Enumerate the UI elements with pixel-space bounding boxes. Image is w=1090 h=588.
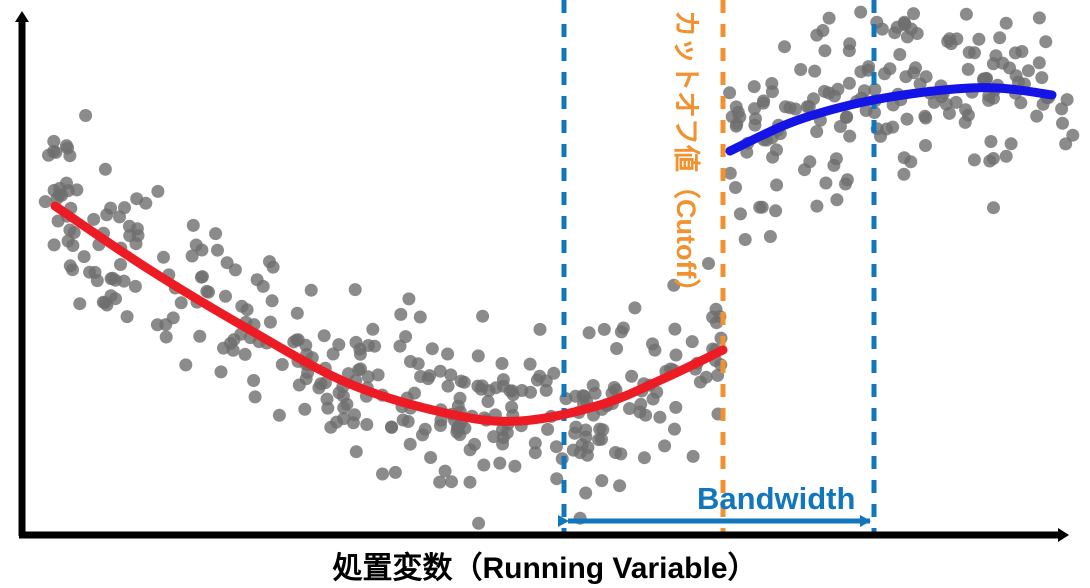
scatter-point bbox=[634, 398, 647, 411]
scatter-point bbox=[587, 379, 600, 392]
scatter-point bbox=[385, 421, 398, 434]
scatter-point bbox=[1030, 110, 1043, 123]
scatter-point bbox=[901, 30, 914, 43]
scatter-point bbox=[798, 163, 811, 176]
scatter-point bbox=[668, 323, 681, 336]
scatter-point bbox=[264, 316, 277, 329]
scatter-point bbox=[434, 365, 447, 378]
scatter-point bbox=[445, 475, 458, 488]
scatter-point bbox=[972, 33, 985, 46]
scatter-point bbox=[91, 274, 104, 287]
scatter-point bbox=[901, 113, 914, 126]
scatter-point bbox=[653, 411, 666, 424]
scatter-point bbox=[200, 285, 213, 298]
scatter-point bbox=[595, 474, 608, 487]
scatter-point bbox=[687, 450, 700, 463]
scatter-point bbox=[416, 428, 429, 441]
scatter-point bbox=[130, 192, 143, 205]
scatter-point bbox=[366, 323, 379, 336]
scatter-point bbox=[807, 92, 820, 105]
scatter-point bbox=[764, 230, 777, 243]
scatter-points bbox=[39, 6, 1080, 530]
scatter-point bbox=[151, 185, 164, 198]
plot-canvas bbox=[0, 0, 1090, 588]
scatter-point bbox=[360, 418, 373, 431]
scatter-point bbox=[441, 348, 454, 361]
scatter-point bbox=[959, 103, 972, 116]
scatter-point bbox=[389, 466, 402, 479]
scatter-point bbox=[368, 340, 381, 353]
scatter-point bbox=[211, 244, 224, 257]
scatter-point bbox=[1056, 117, 1069, 130]
scatter-point bbox=[1061, 93, 1074, 106]
scatter-point bbox=[247, 374, 260, 387]
scatter-point bbox=[529, 446, 542, 459]
cutoff-label: カットオフ値（Cutoff） bbox=[669, 10, 708, 310]
scatter-point bbox=[843, 130, 856, 143]
scatter-point bbox=[402, 292, 415, 305]
scatter-point bbox=[159, 318, 172, 331]
scatter-point bbox=[810, 200, 823, 213]
scatter-point bbox=[753, 201, 766, 214]
scatter-point bbox=[99, 163, 112, 176]
bandwidth-label: Bandwidth bbox=[697, 481, 855, 517]
scatter-point bbox=[1000, 17, 1013, 30]
scatter-point bbox=[257, 280, 270, 293]
scatter-point bbox=[784, 101, 797, 114]
scatter-point bbox=[100, 208, 113, 221]
scatter-point bbox=[292, 333, 305, 346]
scatter-point bbox=[324, 421, 337, 434]
scatter-point bbox=[228, 333, 241, 346]
scatter-point bbox=[179, 358, 192, 371]
scatter-point bbox=[235, 300, 248, 313]
scatter-point bbox=[249, 390, 262, 403]
scatter-point bbox=[321, 402, 334, 415]
scatter-point bbox=[686, 335, 699, 348]
scatter-point bbox=[843, 44, 856, 57]
scatter-point bbox=[568, 427, 581, 440]
scatter-point bbox=[724, 167, 737, 180]
scatter-point bbox=[79, 109, 92, 122]
scatter-point bbox=[195, 271, 208, 284]
scatter-point bbox=[64, 259, 77, 272]
scatter-point bbox=[404, 355, 417, 368]
scatter-point bbox=[394, 308, 407, 321]
scatter-point bbox=[472, 349, 485, 362]
scatter-point bbox=[464, 443, 477, 456]
scatter-point bbox=[984, 135, 997, 148]
scatter-point bbox=[376, 468, 389, 481]
scatter-point bbox=[962, 63, 975, 76]
scatter-point bbox=[968, 153, 981, 166]
scatter-point bbox=[131, 222, 144, 235]
scatter-point bbox=[918, 110, 931, 123]
scatter-point bbox=[62, 235, 75, 248]
scatter-point bbox=[819, 177, 832, 190]
scatter-point bbox=[534, 323, 547, 336]
scatter-point bbox=[904, 155, 917, 168]
scatter-point bbox=[550, 440, 563, 453]
scatter-point bbox=[769, 204, 782, 217]
scatter-point bbox=[983, 155, 996, 168]
scatter-point bbox=[266, 294, 279, 307]
scatter-point bbox=[839, 178, 852, 191]
scatter-point bbox=[314, 377, 327, 390]
x-axis-label: 処置変数（Running Variable） bbox=[0, 543, 1090, 587]
scatter-point bbox=[613, 479, 626, 492]
scatter-point bbox=[273, 409, 286, 422]
scatter-point bbox=[118, 275, 131, 288]
scatter-point bbox=[1033, 11, 1046, 24]
scatter-point bbox=[414, 370, 427, 383]
scatter-point bbox=[748, 80, 761, 93]
scatter-point bbox=[899, 18, 912, 31]
scatter-point bbox=[1009, 46, 1022, 59]
scatter-point bbox=[408, 387, 421, 400]
scatter-point bbox=[987, 57, 1000, 70]
scatter-point bbox=[778, 40, 791, 53]
scatter-point bbox=[496, 357, 509, 370]
scatter-point bbox=[113, 210, 126, 223]
scatter-point bbox=[404, 438, 417, 451]
scatter-point bbox=[950, 32, 963, 45]
scatter-point bbox=[920, 70, 933, 83]
scatter-point bbox=[1005, 137, 1018, 150]
scatter-point bbox=[940, 98, 953, 111]
scatter-point bbox=[1033, 56, 1046, 69]
scatter-point bbox=[886, 121, 899, 134]
scatter-point bbox=[476, 310, 489, 323]
scatter-point bbox=[810, 29, 823, 42]
scatter-point bbox=[318, 329, 331, 342]
scatter-point bbox=[78, 250, 91, 263]
scatter-point bbox=[414, 311, 427, 324]
scatter-point bbox=[47, 145, 60, 158]
scatter-point bbox=[471, 380, 484, 393]
scatter-point bbox=[1000, 150, 1013, 163]
scatter-point bbox=[818, 44, 831, 57]
scatter-point bbox=[276, 358, 289, 371]
scatter-point bbox=[63, 149, 76, 162]
scatter-point bbox=[540, 375, 553, 388]
scatter-point bbox=[507, 388, 520, 401]
scatter-point bbox=[348, 408, 361, 421]
scatter-point bbox=[670, 349, 683, 362]
scatter-point bbox=[982, 94, 995, 107]
scatter-point bbox=[239, 348, 252, 361]
scatter-point bbox=[121, 310, 134, 323]
scatter-point bbox=[595, 433, 608, 446]
scatter-point bbox=[1039, 35, 1052, 48]
scatter-point bbox=[614, 447, 627, 460]
scatter-point bbox=[843, 77, 856, 90]
scatter-point bbox=[610, 342, 623, 355]
scatter-point bbox=[219, 290, 232, 303]
scatter-point bbox=[501, 426, 514, 439]
scatter-point bbox=[734, 207, 747, 220]
scatter-point bbox=[823, 87, 836, 100]
scatter-point bbox=[765, 77, 778, 90]
scatter-point bbox=[70, 183, 83, 196]
scatter-point bbox=[193, 330, 206, 343]
scatter-point bbox=[424, 451, 437, 464]
scatter-point bbox=[840, 110, 853, 123]
scatter-point bbox=[808, 65, 821, 78]
scatter-point bbox=[960, 8, 973, 21]
scatter-point bbox=[579, 487, 592, 500]
scatter-point bbox=[628, 301, 641, 314]
scatter-point bbox=[48, 184, 61, 197]
scatter-point bbox=[350, 336, 363, 349]
scatter-point bbox=[646, 337, 659, 350]
scatter-point bbox=[426, 342, 439, 355]
scatter-point bbox=[442, 380, 455, 393]
scatter-point bbox=[472, 517, 485, 530]
scatter-point bbox=[987, 201, 1000, 214]
scatter-point bbox=[757, 94, 770, 107]
scatter-point bbox=[794, 63, 807, 76]
scatter-point bbox=[394, 340, 407, 353]
scatter-point bbox=[291, 307, 304, 320]
scatter-point bbox=[458, 376, 471, 389]
scatter-point bbox=[919, 139, 932, 152]
scatter-point bbox=[823, 12, 836, 25]
scatter-point bbox=[1037, 98, 1050, 111]
scatter-point bbox=[298, 403, 311, 416]
scatter-point bbox=[928, 96, 941, 109]
scatter-point bbox=[574, 446, 587, 459]
scatter-point bbox=[810, 125, 823, 138]
scatter-point bbox=[157, 251, 170, 264]
scatter-point bbox=[433, 476, 446, 489]
left-regression-curve bbox=[55, 206, 723, 421]
scatter-point bbox=[452, 421, 465, 434]
scatter-point bbox=[209, 227, 222, 240]
scatter-point bbox=[830, 193, 843, 206]
scatter-point bbox=[477, 459, 490, 472]
scatter-point bbox=[668, 423, 681, 436]
scatter-point bbox=[598, 323, 611, 336]
scatter-point bbox=[739, 233, 752, 246]
scatter-point bbox=[190, 239, 203, 252]
scatter-point bbox=[770, 179, 783, 192]
scatter-point bbox=[175, 296, 188, 309]
scatter-point bbox=[899, 70, 912, 83]
scatter-point bbox=[350, 445, 363, 458]
scatter-point bbox=[830, 152, 843, 165]
scatter-point bbox=[1022, 64, 1035, 77]
scatter-point bbox=[625, 370, 638, 383]
scatter-point bbox=[73, 297, 86, 310]
scatter-point bbox=[669, 401, 682, 414]
scatter-point bbox=[1035, 71, 1048, 84]
scatter-point bbox=[578, 390, 591, 403]
scatter-point bbox=[583, 326, 596, 339]
scatter-point bbox=[114, 258, 127, 271]
scatter-point bbox=[187, 219, 200, 232]
scatter-point bbox=[105, 289, 118, 302]
scatter-point bbox=[215, 365, 228, 378]
scatter-point bbox=[993, 31, 1006, 44]
scatter-point bbox=[541, 423, 554, 436]
rdd-figure: カットオフ値（Cutoff） Bandwidth 処置変数（Running Va… bbox=[0, 0, 1090, 588]
scatter-point bbox=[129, 280, 142, 293]
scatter-point bbox=[160, 331, 173, 344]
scatter-point bbox=[1059, 137, 1072, 150]
scatter-point bbox=[694, 376, 707, 389]
scatter-point bbox=[854, 6, 867, 19]
scatter-point bbox=[332, 338, 345, 351]
scatter-point bbox=[893, 48, 906, 61]
scatter-point bbox=[524, 358, 537, 371]
scatter-point bbox=[883, 62, 896, 75]
scatter-point bbox=[888, 26, 901, 39]
scatter-point bbox=[106, 272, 119, 285]
scatter-point bbox=[464, 476, 477, 489]
scatter-point bbox=[749, 112, 762, 125]
scatter-point bbox=[766, 151, 779, 164]
scatter-point bbox=[508, 460, 521, 473]
scatter-point bbox=[305, 284, 318, 297]
scatter-point bbox=[229, 263, 242, 276]
scatter-point bbox=[397, 414, 410, 427]
scatter-point bbox=[48, 238, 61, 251]
scatter-point bbox=[372, 368, 385, 381]
scatter-point bbox=[550, 472, 563, 485]
scatter-point bbox=[349, 283, 362, 296]
scatter-point bbox=[729, 181, 742, 194]
scatter-point bbox=[968, 46, 981, 59]
scatter-point bbox=[658, 439, 671, 452]
scatter-point bbox=[39, 195, 52, 208]
scatter-point bbox=[615, 325, 628, 338]
scatter-point bbox=[337, 401, 350, 414]
scatter-point bbox=[638, 451, 651, 464]
scatter-point bbox=[897, 168, 910, 181]
scatter-point bbox=[267, 261, 280, 274]
scatter-point bbox=[579, 431, 592, 444]
scatter-point bbox=[454, 392, 467, 405]
scatter-point bbox=[493, 457, 506, 470]
scatter-point bbox=[482, 395, 495, 408]
scatter-point bbox=[732, 106, 745, 119]
